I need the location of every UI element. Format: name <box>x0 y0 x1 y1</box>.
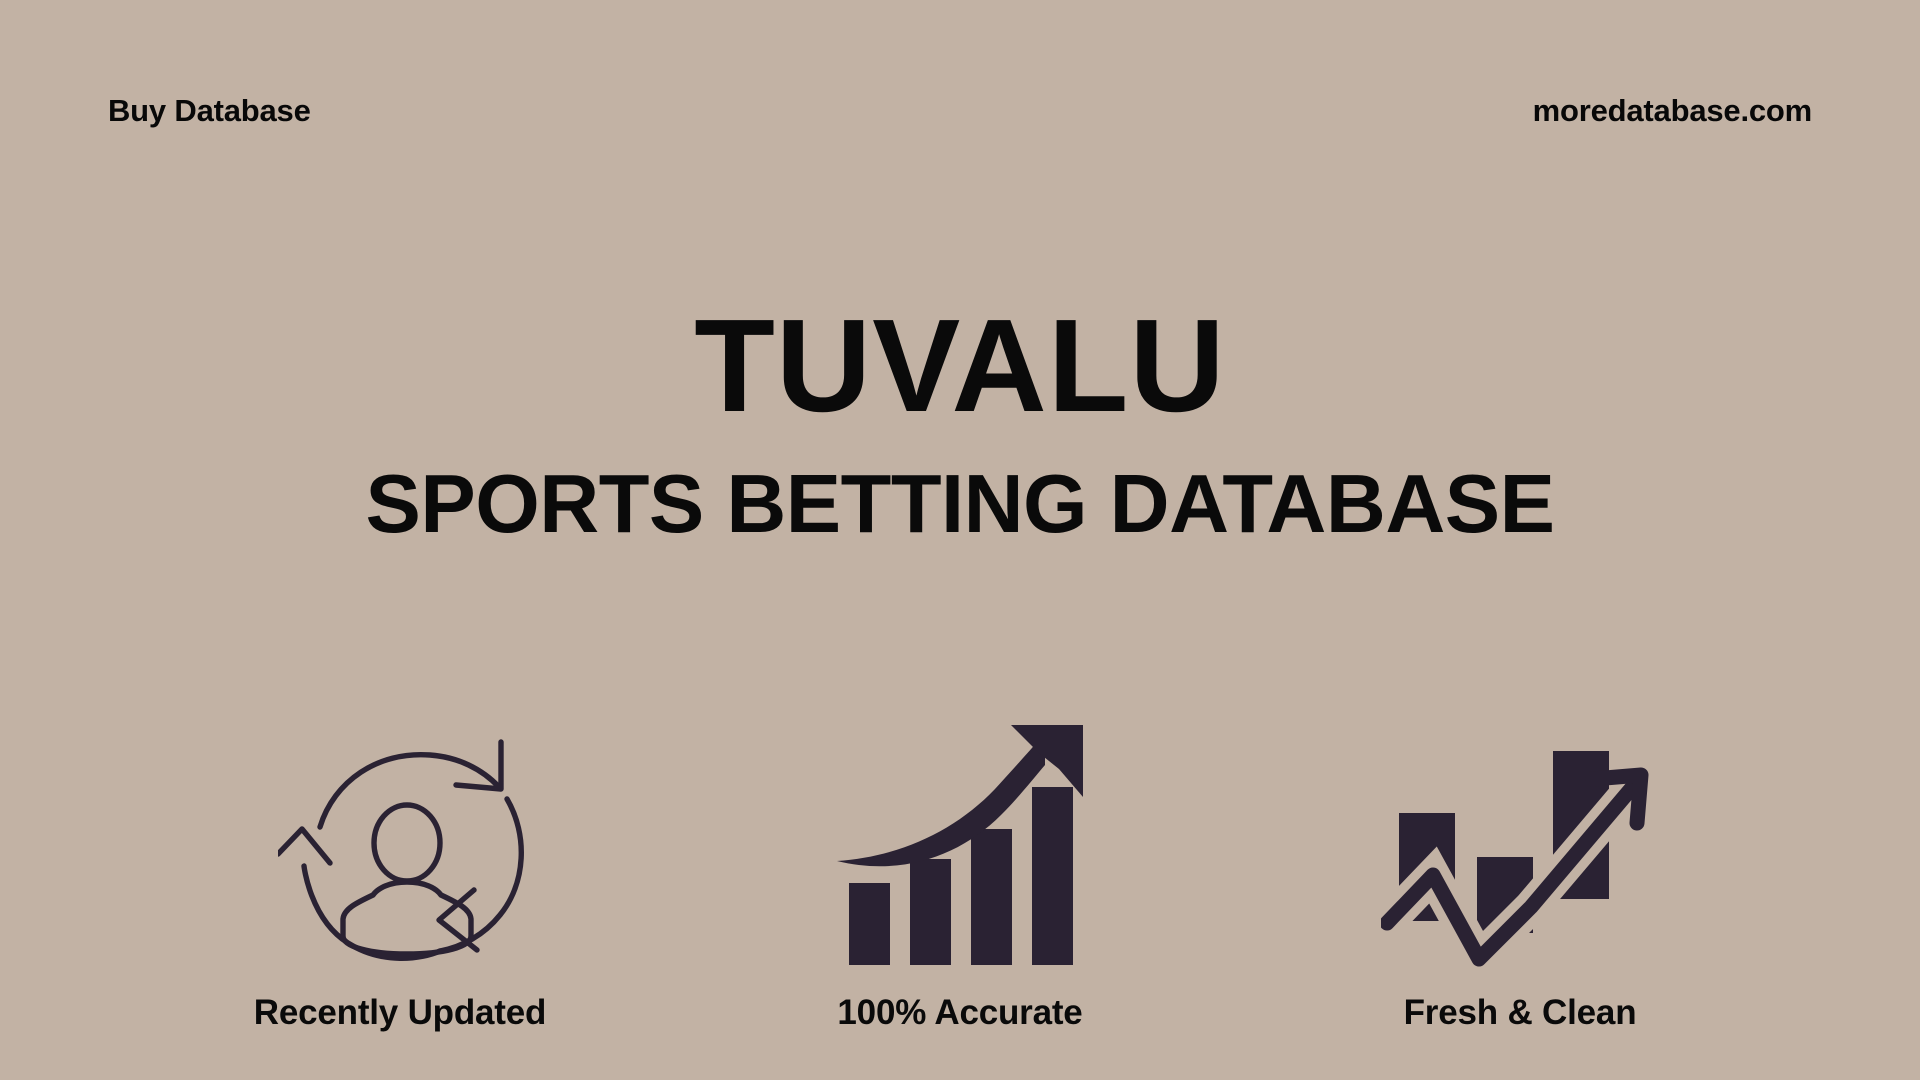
feature-label: Fresh & Clean <box>1404 995 1637 1030</box>
bar-chart-zigzag-arrow-icon <box>1381 723 1671 973</box>
hero-section: TUVALU SPORTS BETTING DATABASE <box>0 300 1920 545</box>
brand-label: Buy Database <box>108 95 311 126</box>
feature-label: Recently Updated <box>254 995 546 1030</box>
feature-accurate: 100% Accurate <box>680 723 1240 1030</box>
banner-header: Buy Database moredatabase.com <box>0 0 1920 220</box>
website-url-label: moredatabase.com <box>1533 95 1812 126</box>
feature-fresh-clean: Fresh & Clean <box>1240 723 1800 1030</box>
feature-row: Recently Updated 100% Accurate <box>0 690 1920 1030</box>
feature-label: 100% Accurate <box>837 995 1082 1030</box>
feature-recently-updated: Recently Updated <box>120 723 680 1030</box>
user-refresh-cycle-icon <box>278 723 538 973</box>
page-title: TUVALU <box>0 300 1920 432</box>
page-subtitle: SPORTS BETTING DATABASE <box>0 462 1920 545</box>
bar-chart-growth-arrow-icon <box>835 723 1085 973</box>
promo-banner: Buy Database moredatabase.com TUVALU SPO… <box>0 0 1920 1080</box>
